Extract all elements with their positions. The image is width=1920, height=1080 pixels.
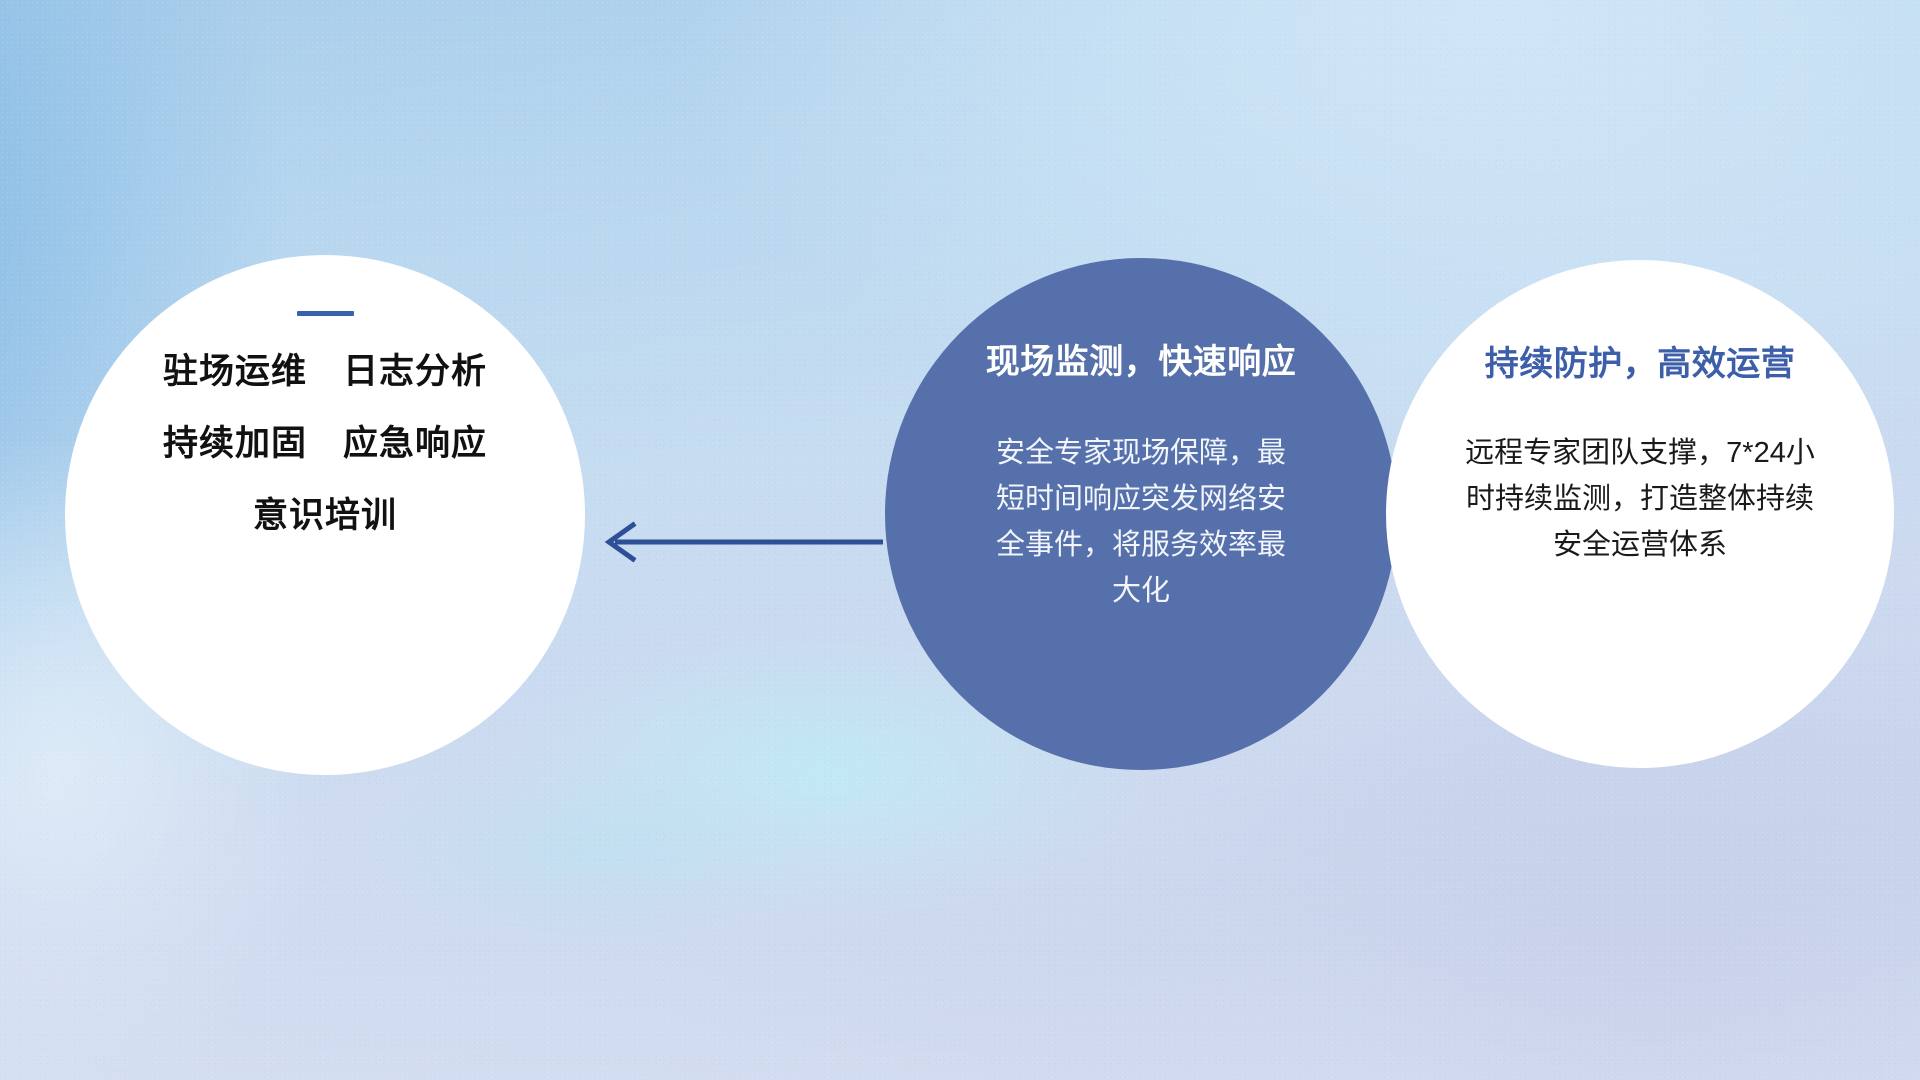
right-circle-content: 持续防护，高效运营 远程专家团队支撑，7*24小时持续监测，打造整体持续安全运营… [1386,260,1894,768]
middle-circle-content: 现场监测，快速响应 安全专家现场保障，最短时间响应突发网络安全事件，将服务效率最… [885,258,1397,770]
right-circle-title: 持续防护，高效运营 [1485,346,1796,383]
right-circle-body: 远程专家团队支撑，7*24小时持续监测，打造整体持续安全运营体系 [1457,431,1823,568]
left-circle-line-3: 意识培训 [253,498,397,533]
middle-circle-title: 现场监测，快速响应 [986,344,1297,381]
left-circle-divider [297,311,354,316]
slide-canvas: 驻场运维 日志分析 持续加固 应急响应 意识培训 现场监测，快速响应 安全专家现… [0,0,1920,1080]
left-circle-line-1: 驻场运维 日志分析 [163,354,487,389]
arrow-left-icon [595,515,885,571]
left-circle-content: 驻场运维 日志分析 持续加固 应急响应 意识培训 [65,255,585,775]
middle-circle-body: 安全专家现场保障，最短时间响应突发网络安全事件，将服务效率最大化 [986,431,1296,614]
left-circle-line-2: 持续加固 应急响应 [163,426,487,461]
